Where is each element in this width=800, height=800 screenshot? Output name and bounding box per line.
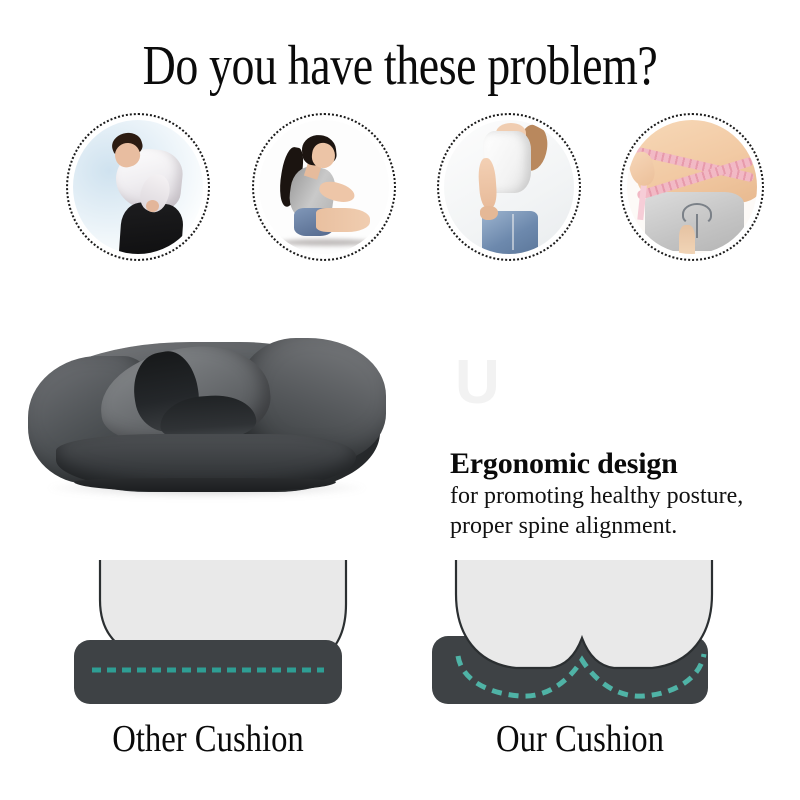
our-cushion-diagram	[400, 560, 760, 720]
problem-circle-lower-back-pain-man	[66, 113, 210, 261]
ergonomic-line-two: proper spine alignment.	[450, 511, 780, 541]
dotted-circle-border-4	[620, 113, 764, 261]
comparison-label-other-cushion: Other Cushion	[53, 718, 363, 760]
product-cushion-photo	[22, 318, 392, 500]
problem-circle-slouched-posture-woman	[252, 113, 396, 261]
ergonomic-line-one: for promoting healthy posture,	[450, 481, 780, 511]
other-cushion-diagram	[28, 560, 388, 720]
comparison-column-other-cushion: Other Cushion	[28, 560, 388, 800]
page-title: Do you have these problem?	[72, 36, 728, 96]
cushion-comparison-section: Other Cushion Our Cushion	[0, 560, 800, 800]
problem-images-row	[0, 113, 800, 263]
dotted-circle-border-1	[66, 113, 210, 261]
problem-circle-waist-measuring-tape	[620, 113, 764, 261]
ergonomic-heading: Ergonomic design	[450, 447, 780, 481]
watermark-text: U	[455, 352, 504, 414]
comparison-label-our-cushion: Our Cushion	[425, 718, 735, 760]
comparison-column-our-cushion: Our Cushion	[400, 560, 760, 800]
dotted-circle-border-2	[252, 113, 396, 261]
problem-circle-back-ache-woman	[437, 113, 581, 261]
dotted-circle-border-3	[437, 113, 581, 261]
ergonomic-text-block: Ergonomic design for promoting healthy p…	[450, 447, 780, 541]
